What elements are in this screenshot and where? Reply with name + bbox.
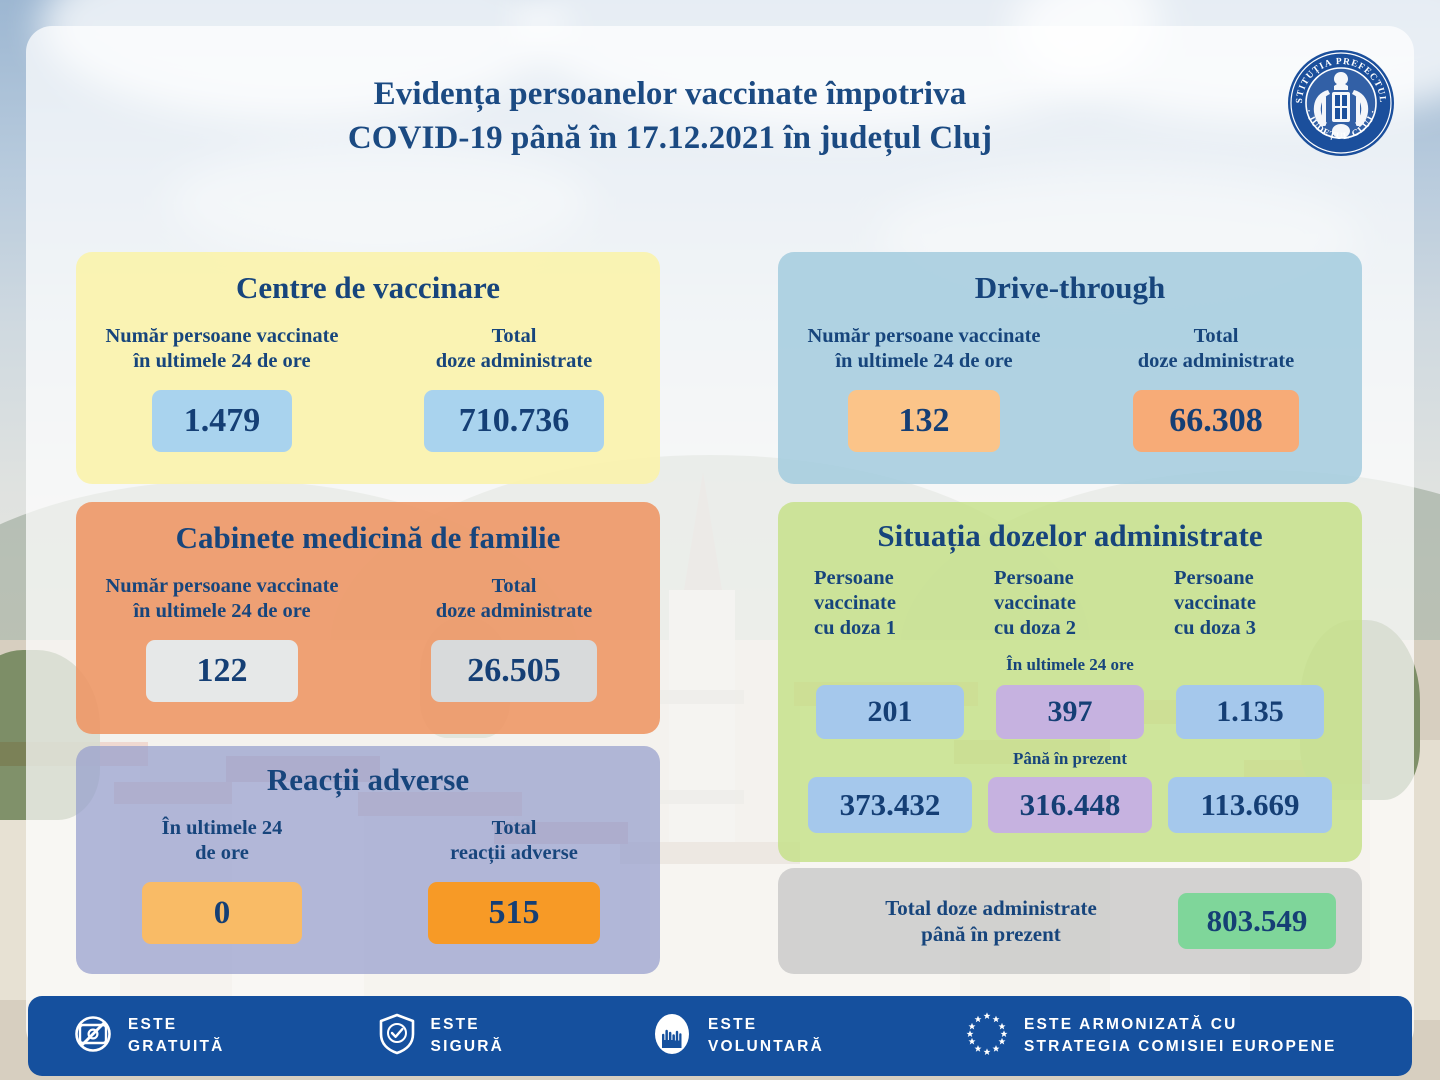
no-money-icon	[72, 1013, 114, 1060]
footer-item-label: ESTE GRATUITĂ	[128, 1014, 225, 1059]
footer-item-label: ESTE VOLUNTARĂ	[708, 1014, 824, 1059]
value-dose1-total: 373.432	[808, 777, 972, 833]
card-doses-situation: Situația dozelor administrate Persoane v…	[778, 502, 1362, 862]
value-last-24h: 1.479	[152, 390, 292, 452]
label-last-24h: Număr persoane vaccinate în ultimele 24 …	[76, 324, 368, 374]
title-line-2: COVID-19 până în 17.12.2021 în județul C…	[0, 116, 1340, 160]
raised-hands-icon	[650, 1012, 694, 1061]
card-title: Cabinete medicină de familie	[76, 520, 660, 556]
label-last-24h: Număr persoane vaccinate în ultimele 24 …	[778, 324, 1070, 374]
card-family-medicine: Cabinete medicină de familie Număr perso…	[76, 502, 660, 734]
label-total-doses: Total doze administrate	[1070, 324, 1362, 374]
footer-item-safe: ESTE SIGURĂ	[377, 1012, 504, 1061]
value-total: 26.505	[431, 640, 597, 702]
note-last-24h: În ultimele 24 ore	[778, 655, 1362, 675]
label-dose-1: Persoane vaccinate cu doza 1	[800, 566, 980, 641]
footer-item-eu-strategy: ESTE ARMONIZATĂ CU STRATEGIA COMISIEI EU…	[964, 1011, 1337, 1062]
value-last-24h: 122	[146, 640, 298, 702]
label-last-24h: În ultimele 24 de ore	[76, 816, 368, 866]
page-header: Evidența persoanelor vaccinate împotriva…	[0, 72, 1340, 160]
card-total-doses: Total doze administrate până în prezent …	[778, 868, 1362, 974]
label-total-doses: Total doze administrate	[368, 324, 660, 374]
card-adverse-reactions: Reacții adverse În ultimele 24 de ore To…	[76, 746, 660, 974]
value-dose3-24h: 1.135	[1176, 685, 1324, 739]
value-dose2-24h: 397	[996, 685, 1144, 739]
note-to-date: Până în prezent	[778, 749, 1362, 769]
card-title: Reacții adverse	[76, 762, 660, 798]
eu-stars-icon	[964, 1011, 1010, 1062]
value-last-24h: 132	[848, 390, 1000, 452]
value-total-doses: 803.549	[1178, 893, 1336, 949]
label-total-doses-to-date: Total doze administrate până în prezent	[804, 895, 1178, 948]
card-vaccination-centres: Centre de vaccinare Număr persoane vacci…	[76, 252, 660, 484]
title-line-1: Evidența persoanelor vaccinate împotriva	[0, 72, 1340, 116]
value-dose2-total: 316.448	[988, 777, 1152, 833]
value-total: 710.736	[424, 390, 604, 452]
label-total-doses: Total doze administrate	[368, 574, 660, 624]
value-dose1-24h: 201	[816, 685, 964, 739]
value-last-24h: 0	[142, 882, 302, 944]
infographic-root: Evidența persoanelor vaccinate împotriva…	[0, 0, 1440, 1080]
card-drive-through: Drive-through Număr persoane vaccinate î…	[778, 252, 1362, 484]
shield-check-icon	[377, 1012, 417, 1061]
footer-bar: ESTE GRATUITĂ ESTE SIGURĂ	[28, 996, 1412, 1076]
footer-item-label: ESTE ARMONIZATĂ CU STRATEGIA COMISIEI EU…	[1024, 1014, 1337, 1059]
prefecture-seal-logo: INSTITUȚIA PREFECTULUI · JUDEȚUL CLUJ ·	[1286, 48, 1396, 158]
page-title: Evidența persoanelor vaccinate împotriva…	[0, 72, 1340, 160]
label-last-24h: Număr persoane vaccinate în ultimele 24 …	[76, 574, 368, 624]
value-dose3-total: 113.669	[1168, 777, 1332, 833]
label-dose-3: Persoane vaccinate cu doza 3	[1160, 566, 1340, 641]
footer-item-label: ESTE SIGURĂ	[431, 1014, 504, 1059]
footer-item-free: ESTE GRATUITĂ	[72, 1013, 225, 1060]
value-total: 515	[428, 882, 600, 944]
footer-item-voluntary: ESTE VOLUNTARĂ	[650, 1012, 824, 1061]
value-total: 66.308	[1133, 390, 1299, 452]
label-dose-2: Persoane vaccinate cu doza 2	[980, 566, 1160, 641]
card-title: Situația dozelor administrate	[778, 518, 1362, 554]
card-title: Centre de vaccinare	[76, 270, 660, 306]
card-title: Drive-through	[778, 270, 1362, 306]
label-total-reactions: Total reacții adverse	[368, 816, 660, 866]
